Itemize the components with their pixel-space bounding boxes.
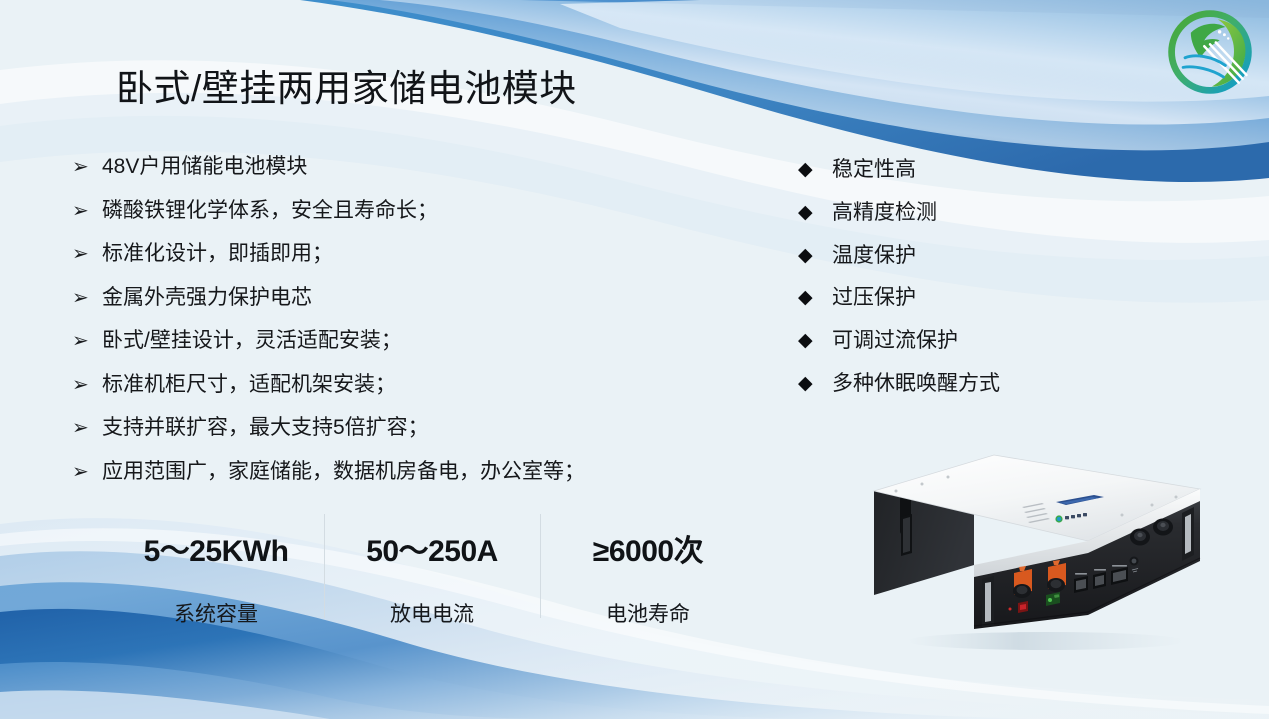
list-item: ➢ 应用范围广，家庭储能，数据机房备电，办公室等； <box>72 457 712 501</box>
list-item-label: 过压保护 <box>832 283 916 312</box>
page-title: 卧式/壁挂两用家储电池模块 <box>116 58 577 112</box>
list-item-label: 金属外壳强力保护电芯 <box>102 283 312 313</box>
stat-cell: 5～25KWh 系统容量 <box>108 512 324 624</box>
list-item-label: 支持并联扩容，最大支持5倍扩容； <box>102 413 429 443</box>
list-item: ➢ 卧式/壁挂设计，灵活适配安装； <box>72 326 712 370</box>
arrow-bullet-icon: ➢ <box>72 196 102 226</box>
arrow-bullet-icon: ➢ <box>72 413 102 443</box>
diamond-bullet-icon: ◆ <box>798 326 832 355</box>
arrow-bullet-icon: ➢ <box>72 370 102 400</box>
stat-cell: ≥6000次 电池寿命 <box>540 512 756 624</box>
list-item-label: 标准机柜尺寸，适配机架安装； <box>102 370 396 400</box>
list-item: ◆ 高精度检测 <box>798 198 1098 241</box>
stat-value: 50～250A <box>324 526 540 570</box>
list-item-label: 高精度检测 <box>832 198 937 227</box>
arrow-bullet-icon: ➢ <box>72 152 102 182</box>
diamond-bullet-icon: ◆ <box>798 198 832 227</box>
arrow-bullet-icon: ➢ <box>72 326 102 356</box>
stat-label: 电池寿命 <box>540 598 756 628</box>
list-item-label: 标准化设计，即插即用； <box>102 239 333 269</box>
stat-label: 放电电流 <box>324 598 540 628</box>
list-item: ➢ 支持并联扩容，最大支持5倍扩容； <box>72 413 712 457</box>
arrow-bullet-icon: ➢ <box>72 239 102 269</box>
list-item: ◆ 温度保护 <box>798 241 1098 284</box>
spec-stats-band: 5～25KWh 系统容量 50～250A 放电电流 ≥6000次 电池寿命 <box>108 512 756 624</box>
stat-label: 系统容量 <box>108 598 324 628</box>
list-item-label: 可调过流保护 <box>832 326 958 355</box>
list-item: ➢ 标准机柜尺寸，适配机架安装； <box>72 370 712 414</box>
battery-module-photo <box>856 443 1208 655</box>
list-item: ➢ 48V户用储能电池模块 <box>72 152 712 196</box>
stat-cell: 50～250A 放电电流 <box>324 512 540 624</box>
arrow-bullet-icon: ➢ <box>72 283 102 313</box>
diamond-bullet-icon: ◆ <box>798 283 832 312</box>
diamond-bullet-icon: ◆ <box>798 369 832 398</box>
list-item: ◆ 稳定性高 <box>798 155 1098 198</box>
list-item: ◆ 多种休眠唤醒方式 <box>798 369 1098 412</box>
diamond-bullet-icon: ◆ <box>798 241 832 270</box>
feature-list-right: ◆ 稳定性高 ◆ 高精度检测 ◆ 温度保护 ◆ 过压保护 ◆ 可调过流保护 ◆ … <box>798 155 1098 412</box>
list-item-label: 多种休眠唤醒方式 <box>832 369 1000 398</box>
diamond-bullet-icon: ◆ <box>798 155 832 184</box>
list-item: ◆ 可调过流保护 <box>798 326 1098 369</box>
list-item-label: 温度保护 <box>832 241 916 270</box>
arrow-bullet-icon: ➢ <box>72 457 102 487</box>
list-item-label: 稳定性高 <box>832 155 916 184</box>
feature-list-left: ➢ 48V户用储能电池模块 ➢ 磷酸铁锂化学体系，安全且寿命长； ➢ 标准化设计… <box>72 152 712 500</box>
list-item-label: 应用范围广，家庭储能，数据机房备电，办公室等； <box>102 457 585 487</box>
list-item-label: 磷酸铁锂化学体系，安全且寿命长； <box>102 196 438 226</box>
stat-value: ≥6000次 <box>540 526 756 570</box>
list-item: ➢ 标准化设计，即插即用； <box>72 239 712 283</box>
list-item: ➢ 金属外壳强力保护电芯 <box>72 283 712 327</box>
list-item-label: 48V户用储能电池模块 <box>102 152 307 182</box>
list-item-label: 卧式/壁挂设计，灵活适配安装； <box>102 326 402 356</box>
presentation-slide: 卧式/壁挂两用家储电池模块 ➢ 48V户用储能电池模块 ➢ 磷酸铁锂化学体系，安… <box>0 0 1269 719</box>
list-item: ◆ 过压保护 <box>798 283 1098 326</box>
stat-value: 5～25KWh <box>108 526 324 570</box>
company-logo <box>1162 4 1258 100</box>
list-item: ➢ 磷酸铁锂化学体系，安全且寿命长； <box>72 196 712 240</box>
